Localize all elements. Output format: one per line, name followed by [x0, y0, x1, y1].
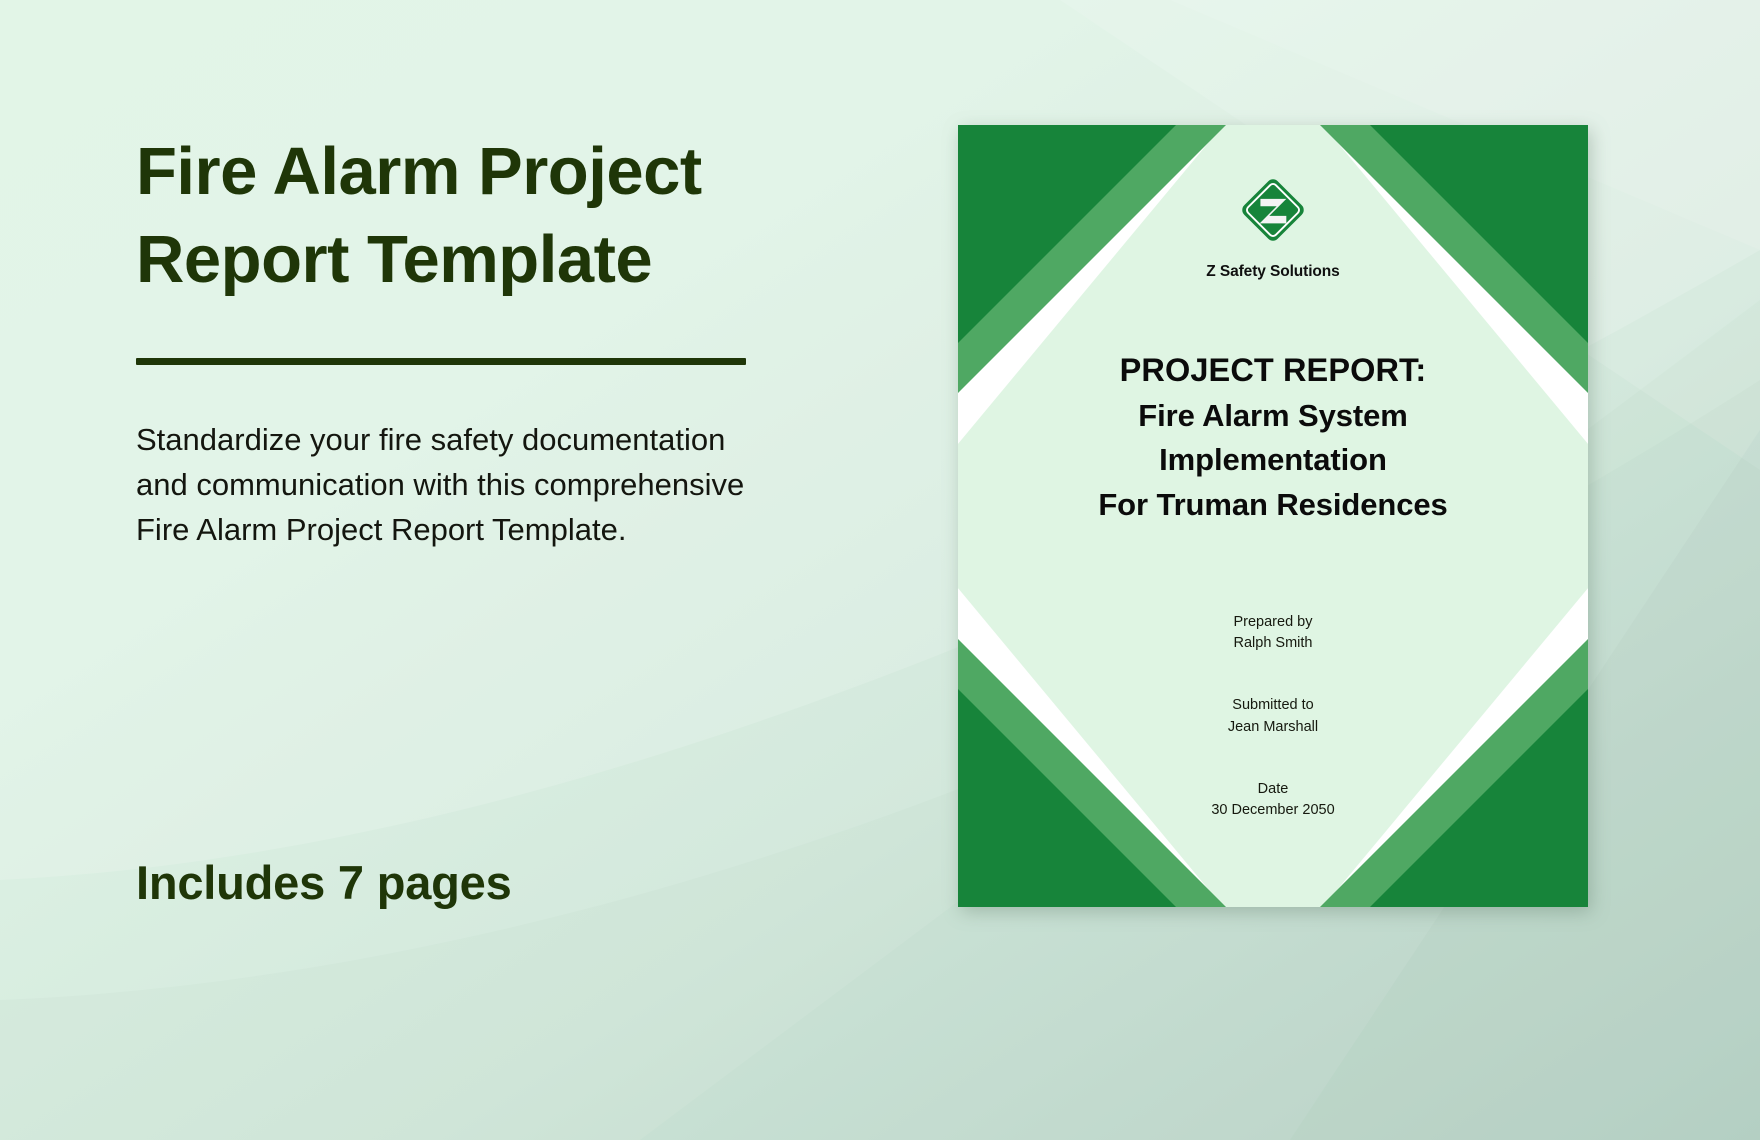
meta-value: Ralph Smith — [1211, 633, 1334, 655]
brand-name: Z Safety Solutions — [1206, 263, 1339, 281]
meta-value: Jean Marshall — [1211, 717, 1334, 739]
meta-label: Submitted to — [1211, 695, 1334, 717]
page-count-label: Includes 7 pages — [136, 855, 512, 910]
document-cover: Z Safety Solutions PROJECT REPORT: Fire … — [958, 125, 1588, 907]
meta-value: 30 December 2050 — [1211, 800, 1334, 822]
document-metadata: Prepared by Ralph Smith Submitted to Jea… — [1211, 612, 1334, 823]
meta-label: Prepared by — [1211, 612, 1334, 634]
page-title: Fire Alarm Project Report Template — [136, 128, 816, 305]
document-title-line-1: Fire Alarm System — [1098, 394, 1447, 439]
meta-submitted-to: Submitted to Jean Marshall — [1211, 695, 1334, 739]
promo-copy-column: Fire Alarm Project Report Template Stand… — [136, 128, 816, 553]
meta-label: Date — [1211, 779, 1334, 801]
brand-lockup: Z Safety Solutions — [1206, 173, 1339, 281]
promo-description: Standardize your fire safety documentati… — [136, 417, 776, 553]
meta-prepared-by: Prepared by Ralph Smith — [1211, 612, 1334, 656]
document-preview[interactable]: Z Safety Solutions PROJECT REPORT: Fire … — [958, 125, 1588, 907]
meta-date: Date 30 December 2050 — [1211, 779, 1334, 823]
document-title-line-2: Implementation — [1098, 438, 1447, 483]
promo-canvas: Fire Alarm Project Report Template Stand… — [0, 0, 1760, 1140]
document-title-lead: PROJECT REPORT: — [1098, 347, 1447, 394]
title-divider — [136, 358, 746, 365]
document-title-line-3: For Truman Residences — [1098, 483, 1447, 528]
document-title: PROJECT REPORT: Fire Alarm System Implem… — [1098, 347, 1447, 528]
z-diamond-logo-icon — [1236, 173, 1310, 247]
